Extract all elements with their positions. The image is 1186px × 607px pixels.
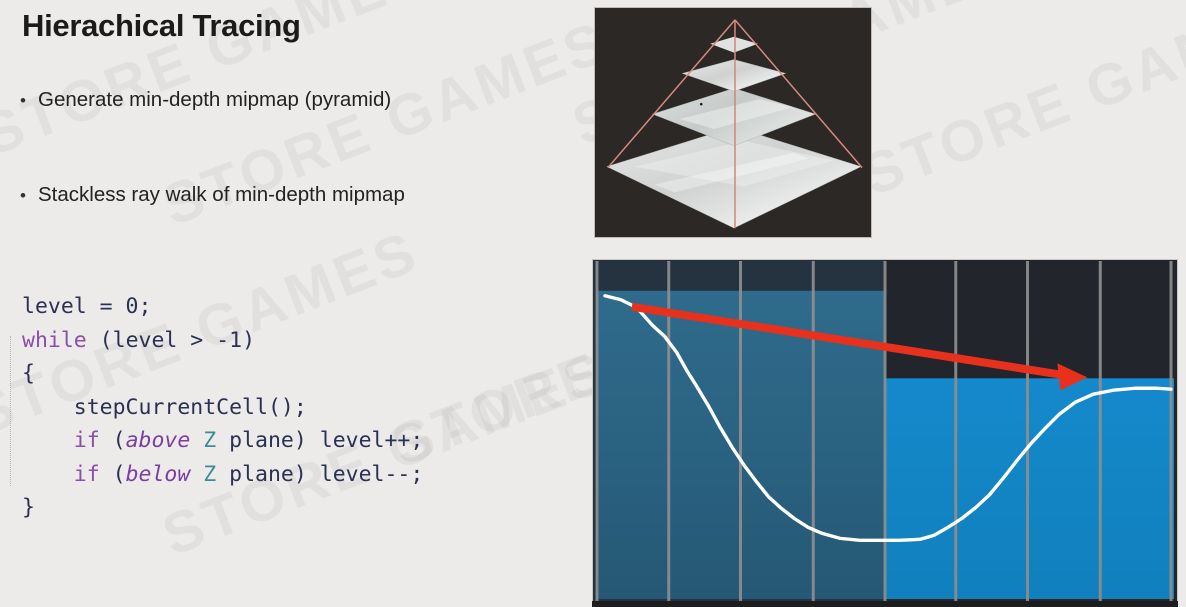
code-token: ( bbox=[100, 462, 126, 487]
code-token: stepCurrentCell(); bbox=[22, 395, 307, 420]
code-token: plane) level++; bbox=[216, 428, 423, 453]
code-line-2: { bbox=[22, 357, 423, 391]
code-token: above bbox=[126, 428, 191, 453]
code-token bbox=[22, 428, 74, 453]
code-token: below bbox=[126, 462, 191, 487]
code-token: if bbox=[74, 462, 100, 487]
code-token: while bbox=[22, 328, 87, 353]
code-token: ( bbox=[100, 428, 126, 453]
code-indent-guide bbox=[10, 336, 12, 486]
code-token: { bbox=[22, 361, 35, 386]
pyramid-svg bbox=[595, 8, 871, 237]
region-below-plane-right bbox=[885, 378, 1174, 599]
code-token: Z bbox=[203, 462, 216, 487]
code-line-5: if (below Z plane) level--; bbox=[22, 458, 423, 492]
bullet-item-0: • Generate min-depth mipmap (pyramid) bbox=[0, 88, 391, 112]
code-line-1: while (level > -1) bbox=[22, 324, 423, 358]
bullet-marker: • bbox=[0, 91, 38, 111]
code-token: level = 0; bbox=[22, 294, 151, 319]
code-line-6: } bbox=[22, 491, 423, 525]
bullet-marker: • bbox=[0, 186, 38, 206]
code-line-4: if (above Z plane) level++; bbox=[22, 424, 423, 458]
bullet-label: Stackless ray walk of min-depth mipmap bbox=[38, 183, 405, 207]
code-token: (level > -1) bbox=[87, 328, 255, 353]
pyramid-sample-point bbox=[700, 103, 703, 106]
code-snippet: level = 0;while (level > -1){ stepCurren… bbox=[22, 290, 423, 525]
code-token bbox=[22, 462, 74, 487]
slide-canvas: STORE GAMES STORE GAMES STORE GAMES STOR… bbox=[0, 0, 1186, 607]
code-line-3: stepCurrentCell(); bbox=[22, 391, 423, 425]
code-token: Z bbox=[203, 428, 216, 453]
page-title: Hierachical Tracing bbox=[22, 8, 301, 44]
watermark-text: STORE GAMES bbox=[854, 0, 1186, 209]
depth-svg bbox=[593, 260, 1177, 602]
bullet-label: Generate min-depth mipmap (pyramid) bbox=[38, 88, 391, 112]
code-line-0: level = 0; bbox=[22, 290, 423, 324]
code-token bbox=[190, 462, 203, 487]
panel-bottom-shadow bbox=[592, 601, 1178, 607]
code-token bbox=[190, 428, 203, 453]
pyramid-figure bbox=[594, 7, 872, 238]
code-token: plane) level--; bbox=[216, 462, 423, 487]
code-token: } bbox=[22, 495, 35, 520]
bullet-item-1: • Stackless ray walk of min-depth mipmap bbox=[0, 183, 405, 207]
code-token: if bbox=[74, 428, 100, 453]
depth-cross-section-figure bbox=[592, 259, 1178, 603]
